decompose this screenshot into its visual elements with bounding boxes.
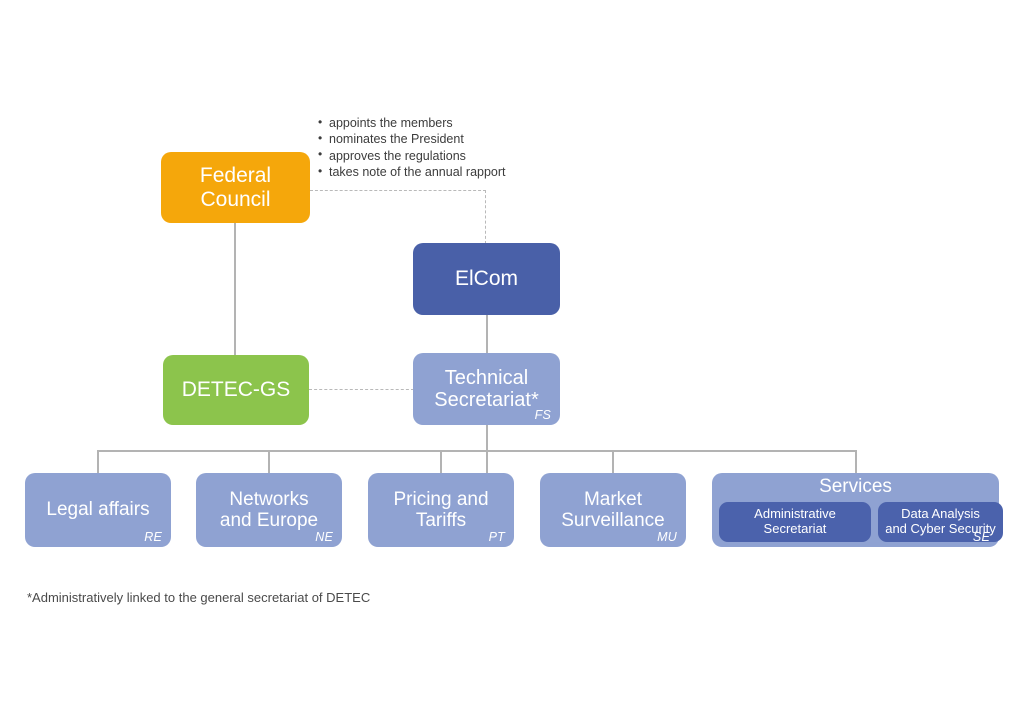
node-detec-gs-label: DETEC-GS [174, 378, 299, 402]
node-elcom-label: ElCom [447, 267, 526, 291]
node-services-abbr: SE [973, 530, 990, 544]
node-pricing-and-tariffs-label: Pricing and Tariffs [385, 489, 496, 532]
node-federal-council[interactable]: Federal Council [161, 152, 310, 223]
node-pricing-and-tariffs[interactable]: Pricing and Tariffs PT [368, 473, 514, 547]
connector-department-bus [97, 450, 856, 452]
connector-federal-council-to-detec [234, 223, 236, 356]
node-detec-gs[interactable]: DETEC-GS [163, 355, 309, 425]
node-market-surveillance-label: Market Surveillance [553, 489, 673, 532]
connector-drop-networks-europe [268, 450, 270, 473]
list-item: takes note of the annual rapport [318, 164, 506, 180]
node-technical-secretariat-label: Technical Secretariat* [426, 367, 547, 412]
node-federal-council-label: Federal Council [161, 164, 310, 211]
connector-drop-market-surveillance [612, 450, 614, 473]
connector-elcom-to-technical-secretariat [486, 315, 488, 354]
footnote: *Administratively linked to the general … [27, 590, 370, 605]
node-services[interactable]: Services Administrative Secretariat Data… [712, 473, 999, 547]
subnode-administrative-secretariat-label: Administrative Secretariat [754, 506, 836, 537]
node-networks-and-europe-label: Networks and Europe [212, 489, 326, 532]
connector-drop-services [855, 450, 857, 473]
list-item: approves the regulations [318, 148, 506, 164]
node-market-surveillance-abbr: MU [657, 530, 677, 544]
list-item: nominates the President [318, 131, 506, 147]
node-elcom[interactable]: ElCom [413, 243, 560, 315]
connector-drop-legal-affairs [97, 450, 99, 473]
connector-federal-council-to-elcom-horizontal [310, 190, 486, 191]
org-chart: Federal Council ElCom DETEC-GS Technical… [0, 0, 1024, 724]
node-networks-and-europe-abbr: NE [315, 530, 333, 544]
connector-detec-to-technical-secretariat [309, 389, 414, 390]
node-technical-secretariat-abbr: FS [535, 408, 551, 422]
node-legal-affairs-label: Legal affairs [38, 499, 157, 520]
node-pricing-and-tariffs-abbr: PT [489, 530, 505, 544]
federal-council-duties-list: appoints the members nominates the Presi… [318, 115, 506, 181]
list-item: appoints the members [318, 115, 506, 131]
node-market-surveillance[interactable]: Market Surveillance MU [540, 473, 686, 547]
federal-council-duties: appoints the members nominates the Presi… [318, 115, 506, 181]
node-legal-affairs[interactable]: Legal affairs RE [25, 473, 171, 547]
subnode-administrative-secretariat[interactable]: Administrative Secretariat [719, 502, 871, 542]
connector-drop-pricing-tariffs [440, 450, 442, 473]
services-subnode-row: Administrative Secretariat Data Analysis… [719, 502, 992, 542]
connector-technical-secretariat-to-bus [486, 425, 488, 473]
node-networks-and-europe[interactable]: Networks and Europe NE [196, 473, 342, 547]
node-technical-secretariat[interactable]: Technical Secretariat* FS [413, 353, 560, 425]
connector-federal-council-to-elcom-vertical [485, 190, 486, 244]
node-services-label: Services [712, 473, 999, 498]
node-legal-affairs-abbr: RE [144, 530, 162, 544]
